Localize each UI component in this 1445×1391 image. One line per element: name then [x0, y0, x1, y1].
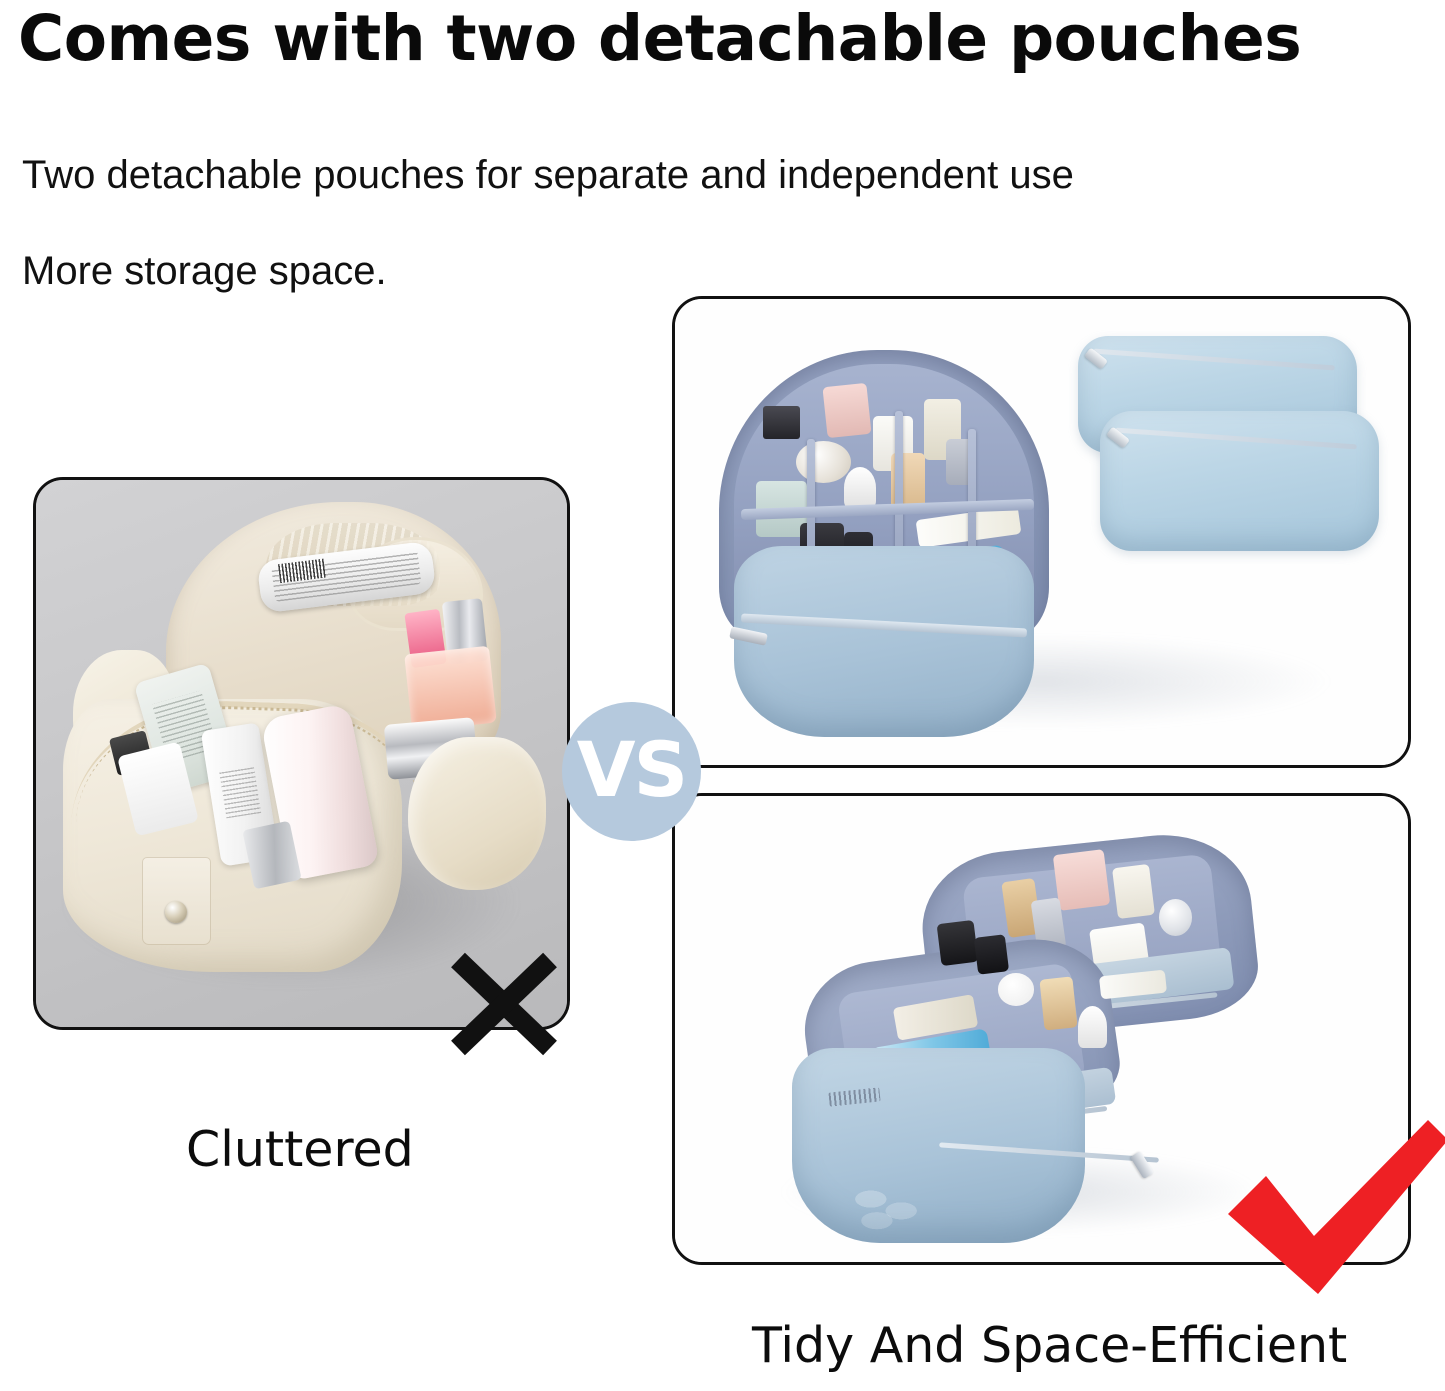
product-pink-compact [823, 383, 872, 439]
vs-label: VS [577, 732, 687, 808]
product-pink-compact [1053, 849, 1111, 911]
caption-cluttered: Cluttered [186, 1122, 414, 1178]
bag-outer-shell [734, 546, 1035, 737]
x-mark-icon [448, 950, 560, 1058]
cluttered-photo-card [33, 477, 570, 1030]
product-perfume-bottle [404, 645, 496, 730]
vs-badge: VS [562, 702, 701, 841]
quilted-texture [848, 1185, 924, 1232]
product-black-case [936, 920, 977, 966]
subheading-line-2: More storage space. [22, 248, 387, 294]
page-title: Comes with two detachable pouches [18, 2, 1438, 76]
label-text-lines [219, 765, 261, 819]
detachable-pouches-photo-card [672, 296, 1411, 768]
bag-with-pouches-photo [675, 299, 1408, 765]
check-mark-icon [1222, 1118, 1445, 1300]
product-black-pencil [973, 934, 1008, 975]
product-gold-bottle [1039, 976, 1077, 1030]
bag-snap-button [165, 901, 187, 923]
product-round-jar [1159, 899, 1193, 936]
product-applicator [844, 467, 876, 509]
product-applicator [998, 973, 1035, 1006]
subheading-line-1: Two detachable pouches for separate and … [22, 152, 1074, 198]
product-white-box [1112, 864, 1155, 919]
caption-tidy: Tidy And Space-Efficient [752, 1318, 1347, 1374]
loose-fabric-right [408, 737, 546, 890]
product-white-cap-bottle [1078, 1006, 1107, 1048]
product-round-jar [796, 441, 851, 483]
cluttered-bag-photo [36, 480, 567, 1027]
product-black-case [763, 406, 800, 439]
